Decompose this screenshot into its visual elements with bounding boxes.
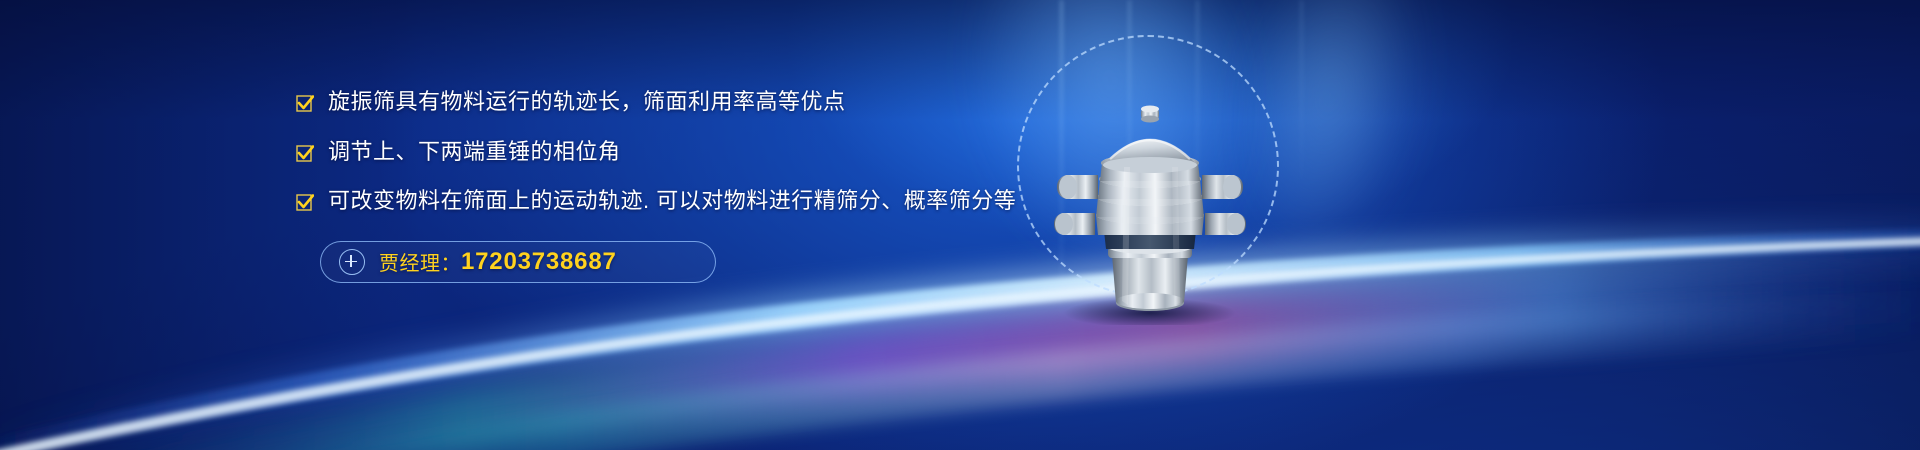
contact-person-label: 贾经理： [379,247,461,276]
checkbox-checked-icon [296,194,314,212]
promo-banner: 旋振筛具有物料运行的轨迹长，筛面利用率高等优点 调节上、下两端重锤的相位角 可改… [0,0,1920,450]
plus-circle-icon [339,249,365,275]
feature-bullet-1-text: 旋振筛具有物料运行的轨迹长，筛面利用率高等优点 [328,88,846,116]
feature-bullet-1: 旋振筛具有物料运行的轨迹长，筛面利用率高等优点 [296,88,1016,116]
feature-bullet-3-text: 可改变物料在筛面上的运动轨迹. 可以对物料进行精筛分、概率筛分等 [328,187,1016,215]
feature-bullet-3: 可改变物料在筛面上的运动轨迹. 可以对物料进行精筛分、概率筛分等 [296,187,1016,215]
contact-phone-pill[interactable]: 贾经理： 17203738687 [320,241,716,283]
feature-bullet-2: 调节上、下两端重锤的相位角 [296,138,1016,166]
checkbox-checked-icon [296,145,314,163]
rotary-vibrating-screen-image [1000,55,1300,325]
feature-bullet-2-text: 调节上、下两端重锤的相位角 [328,138,621,166]
checkbox-checked-icon [296,95,314,113]
banner-content: 旋振筛具有物料运行的轨迹长，筛面利用率高等优点 调节上、下两端重锤的相位角 可改… [296,88,1016,283]
light-beam-4 [1300,0,1303,200]
contact-phone-number: 17203738687 [461,248,617,276]
